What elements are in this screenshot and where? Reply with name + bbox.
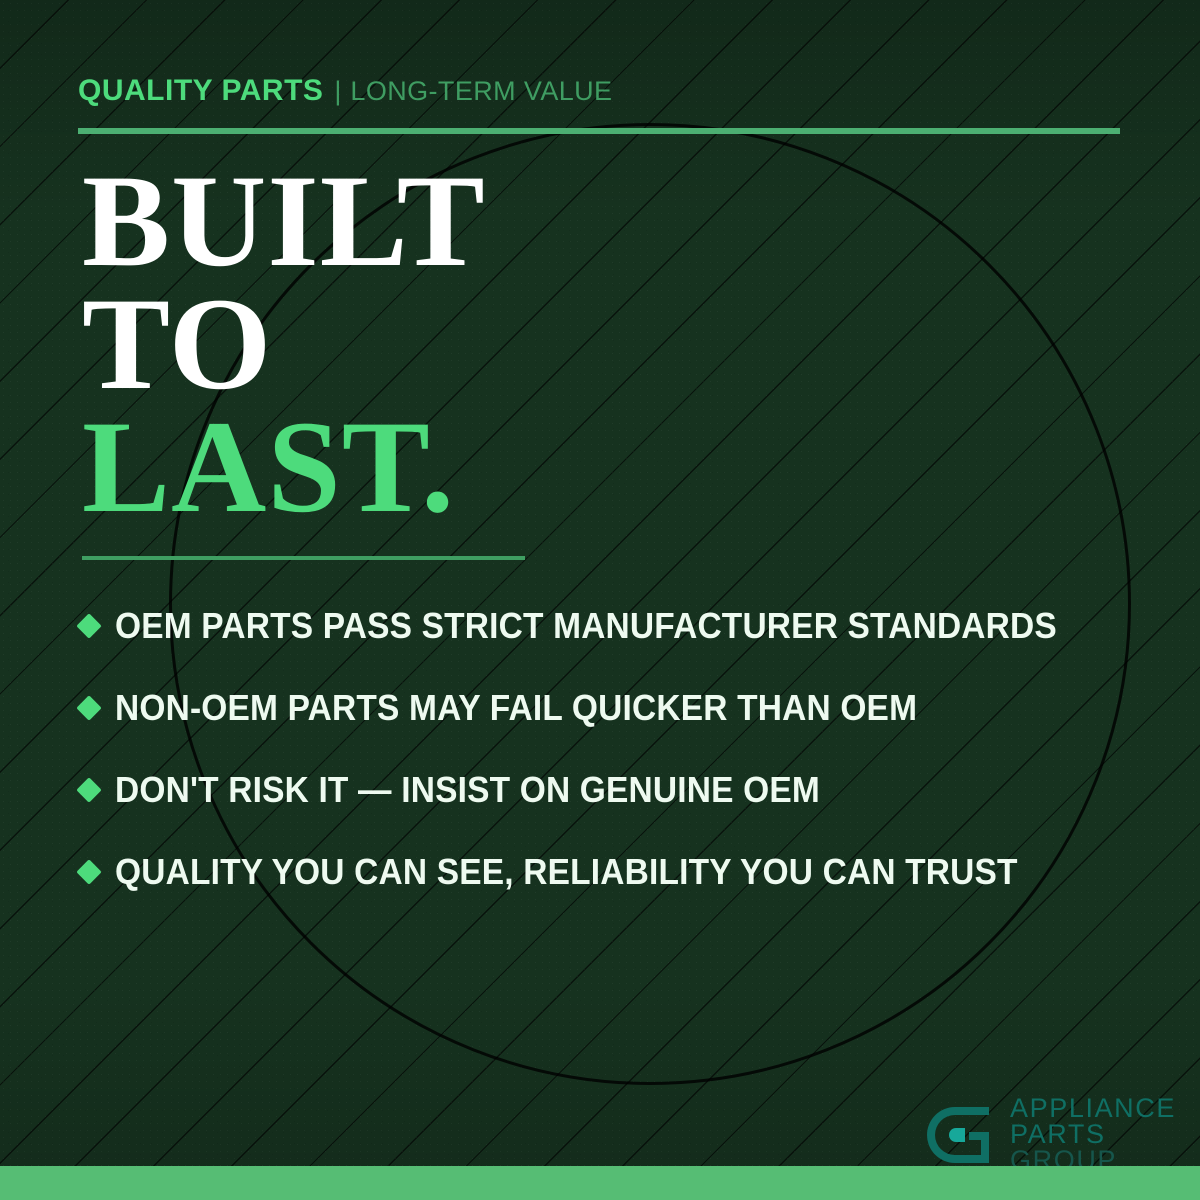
bottom-accent-bar (0, 1166, 1200, 1200)
diamond-bullet-icon (76, 859, 101, 884)
diamond-bullet-icon (76, 777, 101, 802)
kicker-main-label: QUALITY PARTS (78, 74, 323, 108)
brand-wordmark: APPLIANCE PARTS GROUP (1010, 1096, 1176, 1174)
list-item-label: NON-OEM PARTS MAY FAIL QUICKER THAN OEM (115, 687, 917, 729)
list-item-label: QUALITY YOU CAN SEE, RELIABILITY YOU CAN… (115, 851, 1018, 893)
benefit-list: OEM PARTS PASS STRICT MANUFACTURER STAND… (80, 585, 1150, 913)
kicker-sub-label: LONG-TERM VALUE (350, 76, 612, 107)
page-title: BUILT TO LAST. (82, 160, 486, 528)
brand-logo: APPLIANCE PARTS GROUP (925, 1096, 1176, 1174)
diamond-bullet-icon (76, 695, 101, 720)
list-item: DON'T RISK IT — INSIST ON GENUINE OEM (80, 749, 1150, 831)
kicker: QUALITY PARTS | LONG-TERM VALUE (78, 74, 612, 108)
headline-line-1: BUILT (82, 160, 486, 283)
list-item-label: DON'T RISK IT — INSIST ON GENUINE OEM (115, 769, 820, 811)
list-item: OEM PARTS PASS STRICT MANUFACTURER STAND… (80, 585, 1150, 667)
diamond-bullet-icon (76, 613, 101, 638)
headline-divider-rule (82, 556, 525, 560)
list-item: QUALITY YOU CAN SEE, RELIABILITY YOU CAN… (80, 831, 1150, 913)
headline-line-3: LAST. (82, 406, 486, 529)
kicker-separator: | (323, 76, 350, 107)
g-monogram-icon (925, 1099, 997, 1171)
list-item-label: OEM PARTS PASS STRICT MANUFACTURER STAND… (115, 605, 1057, 647)
kicker-divider-rule (78, 128, 1120, 134)
headline-line-2: TO (82, 283, 486, 406)
poster-canvas: QUALITY PARTS | LONG-TERM VALUE BUILT TO… (0, 0, 1200, 1200)
list-item: NON-OEM PARTS MAY FAIL QUICKER THAN OEM (80, 667, 1150, 749)
